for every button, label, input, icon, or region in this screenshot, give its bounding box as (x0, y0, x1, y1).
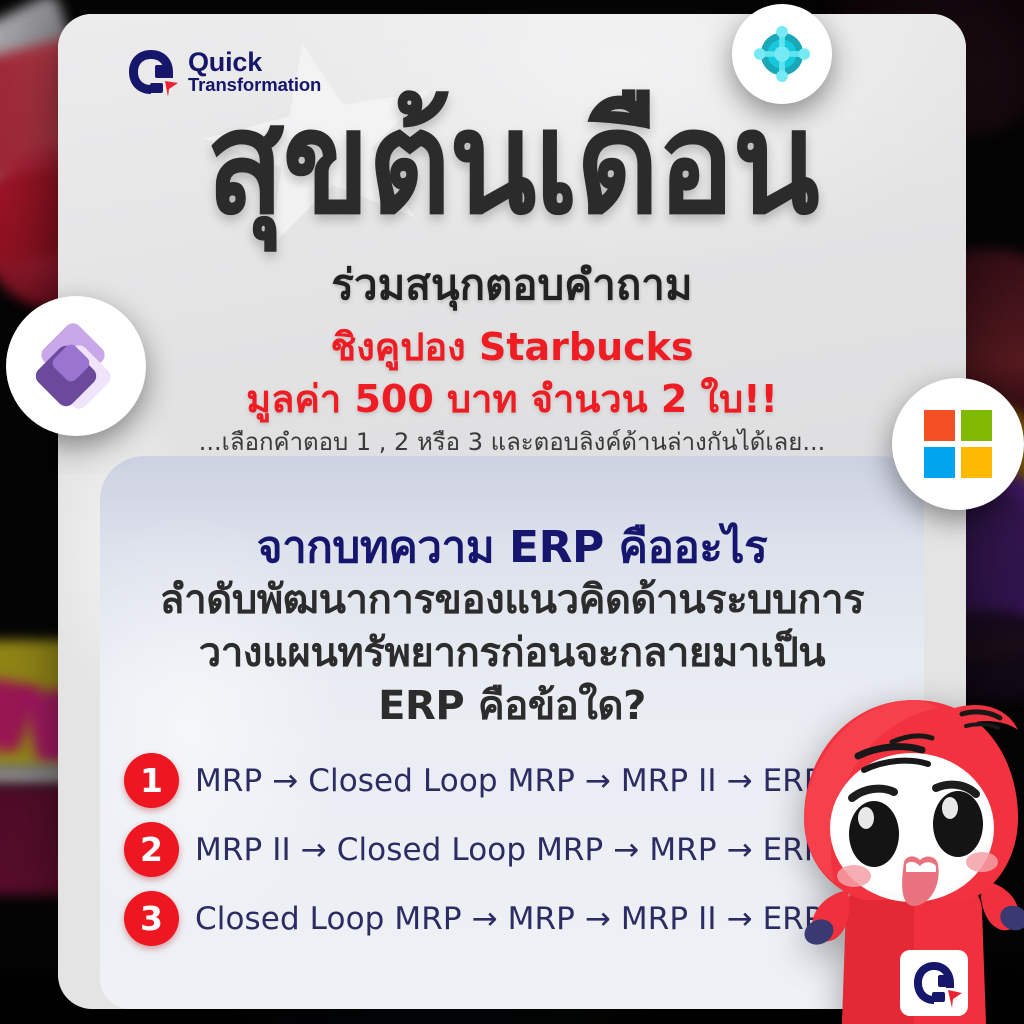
answer-option-1-label: MRP → Closed Loop MRP → MRP II → ERP (195, 763, 823, 799)
power-apps-icon-badge[interactable] (6, 296, 146, 436)
quick-q-logo-icon (124, 45, 178, 99)
question-source-heading: จากบทความ ERP คืออะไร (100, 512, 924, 582)
question-body-line-2: วางแผนทรัพยากรก่อนจะกลายมาเป็น (120, 627, 904, 680)
microsoft-logo-icon (924, 410, 992, 478)
promo-prize-line-2: มูลค่า 500 บาท จำนวน 2 ใบ!! (58, 368, 966, 429)
promo-hint-text: ...เลือกคำตอบ 1 , 2 หรือ 3 และตอบลิงค์ด้… (58, 422, 966, 461)
answer-option-3-number: 3 (124, 891, 179, 946)
brand-line-1: Quick (188, 49, 321, 77)
brand-logo: Quick Transformation (124, 45, 321, 99)
question-body-line-1: ลำดับพัฒนาการของแนวคิดด้านระบบการ (120, 574, 904, 627)
microsoft-logo-badge[interactable] (892, 378, 1024, 510)
brand-line-2: Transformation (188, 76, 321, 95)
answer-option-2-number: 2 (124, 822, 179, 877)
power-apps-icon (28, 318, 124, 414)
quick-mascot-character (786, 694, 1024, 1024)
brand-wordmark: Quick Transformation (188, 49, 321, 95)
dataverse-icon-badge[interactable] (732, 4, 832, 104)
dataverse-icon (751, 23, 813, 85)
promo-join-text: ร่วมสนุกตอบคำถาม (58, 252, 966, 318)
answer-option-3-label: Closed Loop MRP → MRP → MRP II → ERP (195, 901, 823, 937)
answer-option-2-label: MRP II → Closed Loop MRP → MRP → ERP (195, 832, 823, 868)
answer-option-1-number: 1 (124, 753, 179, 808)
poster-backdrop: Quick Transformation สุขต้นเดือน ร่วมสนุ… (0, 0, 1024, 1024)
